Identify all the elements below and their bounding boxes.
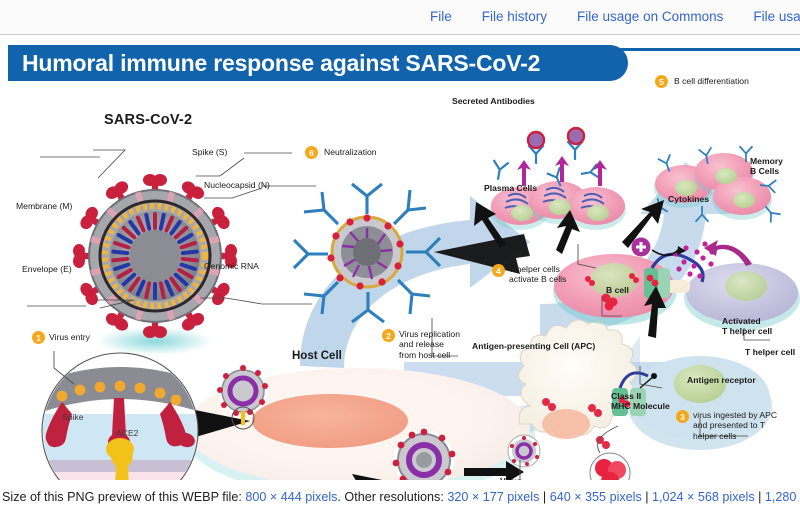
label-secreted-antibodies: Secreted Antibodies [452, 96, 535, 106]
label-cytokines: Cytokines [668, 194, 709, 204]
label-memory-b-cells: Memory B Cells [750, 156, 783, 177]
step-label-3: virus ingested by APC and presented to T… [693, 410, 777, 441]
antibody-secretion-arrows [517, 156, 607, 186]
activation-plus-icon [632, 238, 651, 257]
file-size-caption: Size of this PNG preview of this WEBP fi… [0, 484, 800, 520]
resolution-separator-3: | [758, 490, 761, 504]
label-nucleocapsid: Nucleocapsid (N) [204, 180, 270, 190]
step-label-5: B cell differentiation [674, 76, 749, 86]
antigen-fragment-inset [590, 453, 630, 480]
step-badge-2: 2 [382, 329, 395, 342]
nav-link-file[interactable]: File [430, 0, 452, 34]
label-class-ii-mhc: Class II MHC Molecule [611, 391, 670, 412]
resolution-separator-2: | [645, 490, 648, 504]
step-badge-1: 1 [32, 331, 45, 344]
neutralized-virus [294, 184, 440, 322]
file-page-nav: File File history File usage on Commons … [0, 0, 800, 35]
label-apc: Antigen-presenting Cell (APC) [472, 341, 595, 351]
immune-response-figure[interactable]: Humoral immune response against SARS-CoV… [0, 36, 800, 480]
resolution-link-640[interactable]: 640 × 355 pixels [550, 490, 642, 504]
step-label-6: Neutralization [324, 147, 377, 157]
label-t-helper-cell: T helper cell [745, 347, 795, 357]
label-plasma-cells: Plasma Cells [484, 183, 537, 193]
label-genomic-rna: Genomic RNA [204, 261, 259, 271]
label-envelope: Envelope (E) [22, 264, 72, 274]
preview-size-link[interactable]: 800 × 444 pixels [245, 490, 337, 504]
label-ace2: ACE2 [116, 428, 138, 438]
figure-title: Humoral immune response against SARS-CoV… [22, 50, 540, 77]
step-badge-3: 3 [676, 410, 689, 423]
resolution-link-1280[interactable]: 1,280 × 710 pixe [765, 490, 800, 504]
antibody-bound-virions [528, 128, 584, 148]
label-virus: Virus [500, 476, 521, 480]
banner-accent-line [620, 48, 800, 51]
resolution-link-320[interactable]: 320 × 177 pixels [447, 490, 539, 504]
size-caption-prefix: Size of this PNG preview of this WEBP fi… [2, 490, 242, 504]
step-label-1: Virus entry [49, 332, 90, 342]
label-membrane: Membrane (M) [16, 201, 72, 211]
label-antigen-receptor: Antigen receptor [687, 375, 756, 385]
step-badge-4: 4 [492, 264, 505, 277]
label-spike: Spike (S) [192, 147, 227, 157]
label-b-cell: B cell [606, 285, 629, 295]
label-host-cell: Host Cell [292, 349, 342, 363]
nav-link-file-usage-on-commons[interactable]: File usage on Commons [577, 0, 723, 34]
nav-link-file-usage[interactable]: File usa [753, 0, 800, 34]
resolution-link-1024[interactable]: 1,024 × 568 pixels [652, 490, 755, 504]
label-activated-t-helper-cell: Activated T helper cell [722, 316, 772, 337]
file-description-page: File File history File usage on Commons … [0, 0, 800, 520]
size-caption-middle: . Other resolutions: [337, 490, 443, 504]
figure-title-banner: Humoral immune response against SARS-CoV… [8, 45, 628, 81]
nav-link-file-history[interactable]: File history [482, 0, 547, 34]
label-spike-inset: Spike [62, 412, 84, 422]
secreted-antibodies [490, 141, 599, 189]
resolution-separator-1: | [543, 490, 546, 504]
step-label-4: T helper cells activate B cells [509, 264, 566, 285]
step-badge-5: 5 [655, 75, 668, 88]
virion-title: SARS-CoV-2 [104, 112, 192, 130]
step-label-2: Virus replication and release from host … [399, 329, 460, 360]
step-badge-6: 6 [305, 146, 318, 159]
